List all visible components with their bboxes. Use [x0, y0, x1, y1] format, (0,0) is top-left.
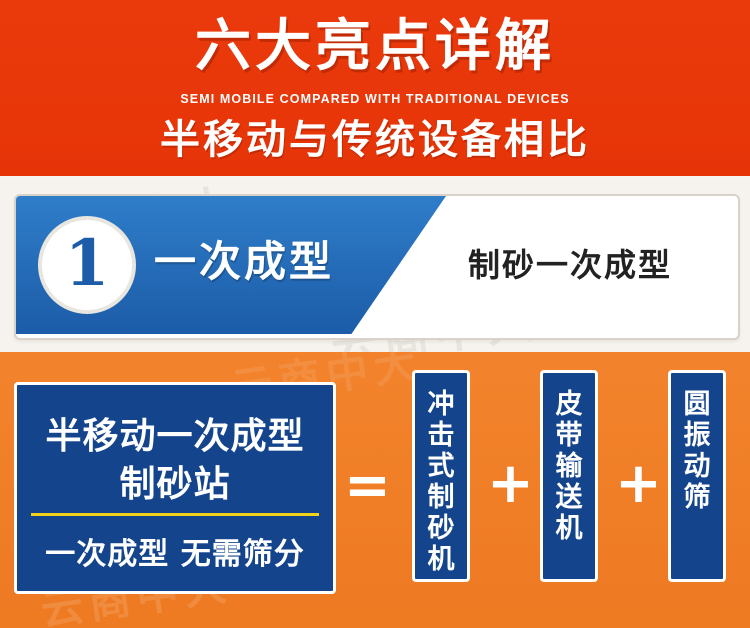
header-subtitle-chinese: 半移动与传统设备相比 — [0, 112, 750, 168]
component-char: 砂 — [415, 513, 467, 544]
poster-page: 六大亮点详解 SEMI MOBILE COMPARED WITH TRADITI… — [0, 0, 750, 628]
equals-operator: = — [344, 458, 391, 514]
formula-main-divider — [31, 513, 319, 516]
formula-component-1: 冲 击 式 制 砂 机 — [412, 370, 470, 582]
point-description: 制砂一次成型 — [468, 240, 672, 286]
component-char: 机 — [543, 513, 595, 544]
component-char: 振 — [671, 420, 723, 451]
header-subtitle-english: SEMI MOBILE COMPARED WITH TRADITIONAL DE… — [0, 92, 750, 106]
formula-main-line2: 制砂站 — [17, 455, 333, 507]
component-char: 输 — [543, 451, 595, 482]
component-char: 制 — [415, 482, 467, 513]
component-char: 机 — [415, 544, 467, 575]
header-title: 六大亮点详解 — [0, 14, 750, 80]
component-char: 冲 — [415, 389, 467, 420]
component-char: 式 — [415, 451, 467, 482]
point-card: 1 一次成型 制砂一次成型 — [14, 194, 740, 340]
formula-main-line1: 半移动一次成型 — [17, 407, 333, 459]
formula-main-box: 半移动一次成型 制砂站 一次成型 无需筛分 — [14, 382, 336, 594]
header-banner: 六大亮点详解 SEMI MOBILE COMPARED WITH TRADITI… — [0, 0, 750, 180]
component-char: 送 — [543, 482, 595, 513]
point-number: 1 — [38, 216, 136, 314]
component-char: 击 — [415, 420, 467, 451]
point-section: 云商中大 云商中大 1 一次成型 制砂一次成型 — [0, 180, 750, 352]
component-char: 皮 — [543, 389, 595, 420]
formula-main-line3: 一次成型 无需筛分 — [17, 529, 333, 573]
component-char: 筛 — [671, 482, 723, 513]
formula-component-2: 皮 带 输 送 机 — [540, 370, 598, 582]
formula-section: 云商中大 云商中大 半移动一次成型 制砂站 一次成型 无需筛分 = 冲 击 式 … — [0, 352, 750, 628]
plus-operator-2: + — [615, 456, 662, 512]
component-char: 带 — [543, 420, 595, 451]
component-char: 动 — [671, 451, 723, 482]
point-banner-label: 一次成型 — [154, 228, 334, 289]
plus-operator-1: + — [487, 456, 534, 512]
component-char: 圆 — [671, 389, 723, 420]
formula-component-3: 圆 振 动 筛 — [668, 370, 726, 582]
